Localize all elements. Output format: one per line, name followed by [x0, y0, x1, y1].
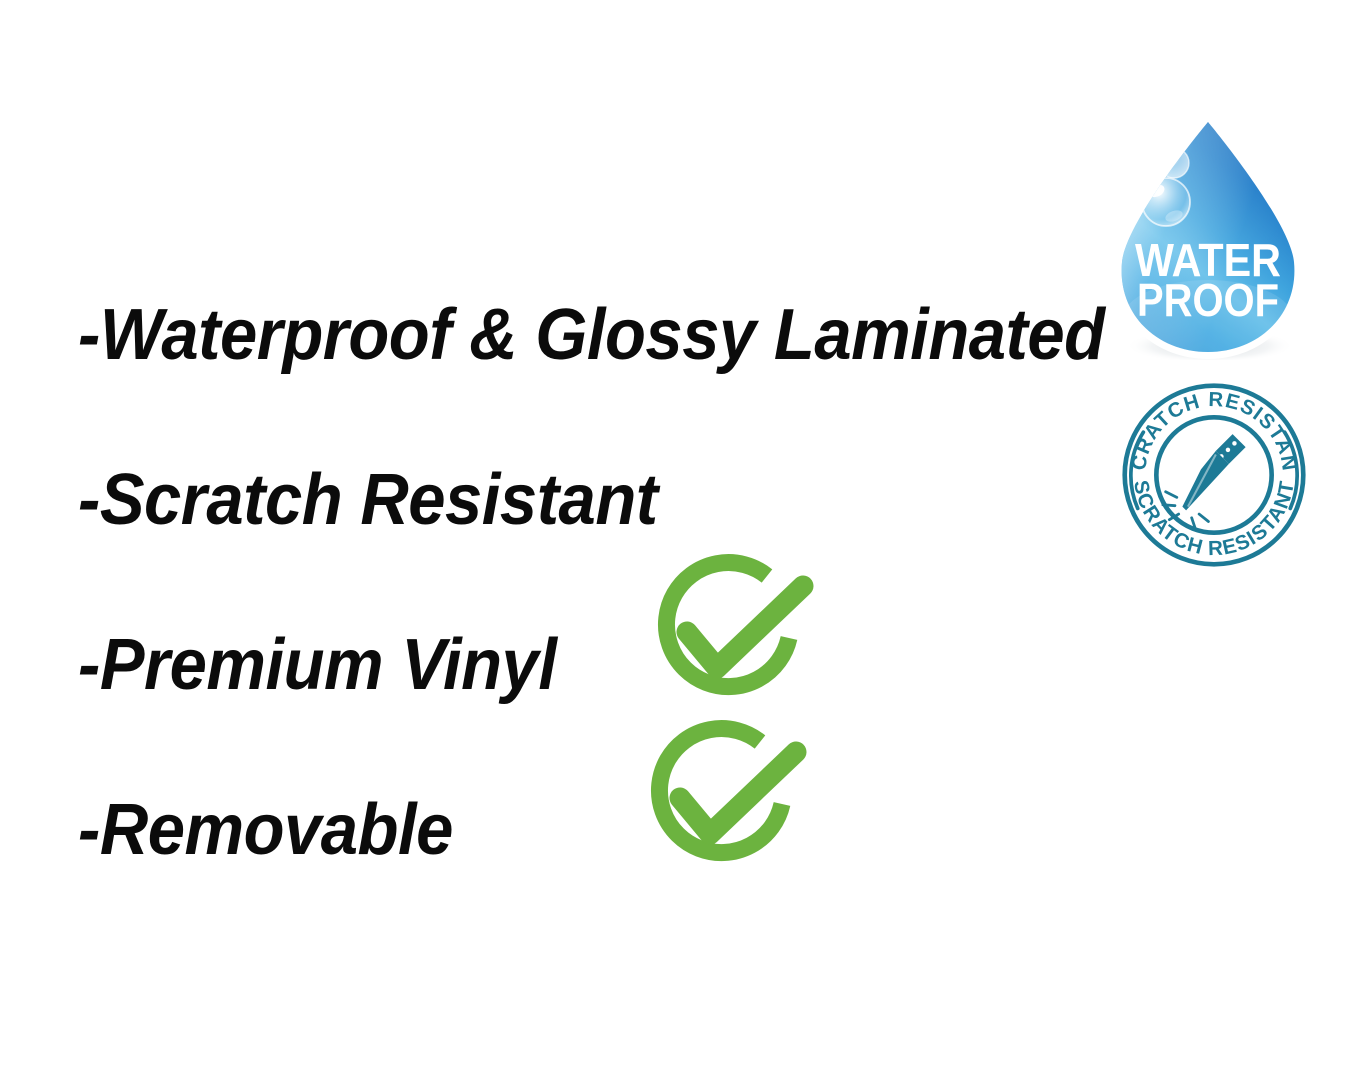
- stamp-text-bottom: SCRATCH RESISTANT: [1129, 479, 1299, 561]
- check-mark-premium-vinyl: [641, 548, 821, 728]
- feature-label: -Scratch Resistant: [78, 464, 658, 536]
- feature-item-scratch-resistant: -Scratch Resistant: [78, 417, 1098, 582]
- waterproof-drop-badge: WATER PROOF: [1104, 108, 1312, 360]
- feature-label: -Waterproof & Glossy Laminated: [78, 299, 1105, 371]
- feature-item-waterproof: -Waterproof & Glossy Laminated: [78, 252, 1098, 417]
- feature-list: -Waterproof & Glossy Laminated -Scratch …: [78, 252, 1098, 912]
- feature-item-removable: -Removable: [78, 747, 1098, 912]
- knife-icon: [1182, 434, 1245, 510]
- feature-label: -Removable: [78, 794, 453, 866]
- feature-label: -Premium Vinyl: [78, 629, 556, 701]
- check-mark-removable: [634, 714, 814, 894]
- scratch-resistant-stamp: SCRATCH RESISTANT SCRATCH RESISTANT: [1121, 382, 1307, 568]
- feature-item-premium-vinyl: -Premium Vinyl: [78, 582, 1098, 747]
- drop-text-line2: PROOF: [1137, 274, 1279, 326]
- product-feature-graphic: -Waterproof & Glossy Laminated -Scratch …: [0, 0, 1359, 1080]
